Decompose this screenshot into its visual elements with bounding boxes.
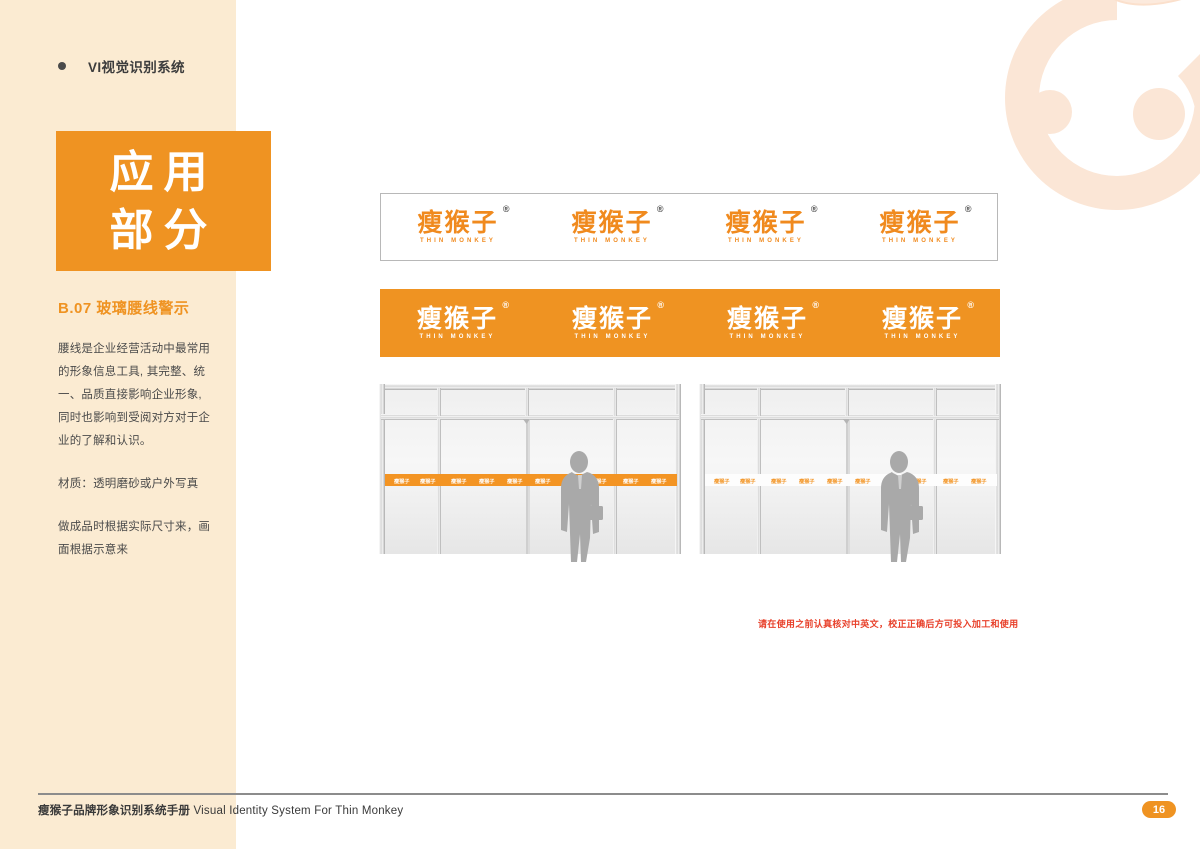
brand-logo-en: THIN MONKEY (727, 334, 808, 340)
brand-logo-cn: 瘦猴子 (879, 210, 960, 235)
svg-text:瘦猴子: 瘦猴子 (943, 477, 959, 485)
brand-logo-en: THIN MONKEY (882, 334, 963, 340)
svg-text:瘦猴子: 瘦猴子 (623, 477, 639, 485)
brand-logo-cn: 瘦猴子 (727, 306, 808, 331)
caution-note: 请在使用之前认真核对中英文，校正正确后方可投入加工和使用 (758, 617, 1018, 630)
footer-title-en: Visual Identity System For Thin Monkey (194, 805, 404, 817)
svg-text:瘦猴子: 瘦猴子 (651, 477, 667, 485)
waistline-band-orange: 瘦猴子 ® THIN MONKEY 瘦猴子 ® THIN MONKEY 瘦猴子 … (380, 289, 1000, 357)
storefront-scene-orange-strip: 瘦猴子瘦猴子 瘦猴子瘦猴子 瘦猴子瘦猴子 瘦猴子瘦猴子 瘦猴子瘦猴子 (375, 378, 685, 563)
storefront-scene-frosted-strip: 瘦猴子瘦猴子 瘦猴子瘦猴子 瘦猴子瘦猴子 瘦猴子瘦猴子 瘦猴子瘦猴子 (695, 378, 1005, 563)
svg-text:瘦猴子: 瘦猴子 (451, 477, 467, 485)
svg-text:瘦猴子: 瘦猴子 (799, 477, 815, 485)
footer-title: 瘦猴子品牌形象识别系统手册 Visual Identity System For… (38, 802, 403, 818)
brand-logo-cn: 瘦猴子 (882, 306, 963, 331)
band-logo-slot: 瘦猴子 ® THIN MONKEY (689, 210, 843, 244)
registered-mark-icon: ® (965, 205, 972, 214)
left-sidebar: VI视觉识别系统 应用 部分 B.07 玻璃腰线警示 腰线是企业经营活动中最常用… (0, 0, 236, 849)
brand-logo-cn: 瘦猴子 (417, 210, 498, 235)
brand-logo-en: THIN MONKEY (417, 238, 498, 244)
vi-manual-page: VI视觉识别系统 应用 部分 B.07 玻璃腰线警示 腰线是企业经营活动中最常用… (0, 0, 1200, 849)
band-logo-slot: 瘦猴子 ® THIN MONKEY (845, 306, 1000, 340)
band-logo-slot: 瘦猴子 ® THIN MONKEY (380, 306, 535, 340)
brand-logo: 瘦猴子 ® THIN MONKEY (882, 306, 963, 340)
brand-logo: 瘦猴子 ® THIN MONKEY (727, 306, 808, 340)
vi-system-title: VI视觉识别系统 (88, 56, 185, 76)
registered-mark-icon: ® (503, 205, 510, 214)
registered-mark-icon: ® (812, 301, 819, 310)
footer-divider (38, 793, 1168, 795)
description-paragraph-3: 做成品时根据实际尺寸来，画面根据示意来 (58, 516, 216, 562)
brand-logo-cn: 瘦猴子 (417, 306, 498, 331)
brand-logo-en: THIN MONKEY (571, 238, 652, 244)
brand-logo-en: THIN MONKEY (572, 334, 653, 340)
svg-text:瘦猴子: 瘦猴子 (855, 477, 871, 485)
svg-text:瘦猴子: 瘦猴子 (420, 477, 436, 485)
section-title: B.07 玻璃腰线警示 (58, 297, 189, 318)
svg-text:瘦猴子: 瘦猴子 (535, 477, 551, 485)
brand-logo-cn: 瘦猴子 (725, 210, 806, 235)
band-logo-slot: 瘦猴子 ® THIN MONKEY (381, 210, 535, 244)
vi-system-header: VI视觉识别系统 (58, 56, 185, 76)
band-logo-slot: 瘦猴子 ® THIN MONKEY (535, 306, 690, 340)
brand-logo: 瘦猴子 ® THIN MONKEY (572, 306, 653, 340)
band-logo-slot: 瘦猴子 ® THIN MONKEY (690, 306, 845, 340)
svg-text:瘦猴子: 瘦猴子 (479, 477, 495, 485)
svg-text:瘦猴子: 瘦猴子 (971, 477, 987, 485)
brand-logo-en: THIN MONKEY (725, 238, 806, 244)
svg-text:瘦猴子: 瘦猴子 (394, 477, 410, 485)
section-description: 腰线是企业经营活动中最常用的形象信息工具, 其完整、统一、品质直接影响企业形象,… (58, 338, 216, 562)
footer-title-cn: 瘦猴子品牌形象识别系统手册 (38, 805, 190, 817)
svg-text:瘦猴子: 瘦猴子 (771, 477, 787, 485)
band-logo-slot: 瘦猴子 ® THIN MONKEY (843, 210, 997, 244)
brand-logo-en: THIN MONKEY (417, 334, 498, 340)
description-paragraph-1: 腰线是企业经营活动中最常用的形象信息工具, 其完整、统一、品质直接影响企业形象,… (58, 338, 216, 453)
brand-logo-cn: 瘦猴子 (571, 210, 652, 235)
svg-text:瘦猴子: 瘦猴子 (714, 477, 730, 485)
brand-logo: 瘦猴子 ® THIN MONKEY (571, 210, 652, 244)
band-logo-slot: 瘦猴子 ® THIN MONKEY (535, 210, 689, 244)
brand-logo: 瘦猴子 ® THIN MONKEY (417, 306, 498, 340)
page-number-badge: 16 (1142, 801, 1176, 818)
svg-text:瘦猴子: 瘦猴子 (827, 477, 843, 485)
brand-logo: 瘦猴子 ® THIN MONKEY (417, 210, 498, 244)
registered-mark-icon: ® (811, 205, 818, 214)
svg-text:瘦猴子: 瘦猴子 (740, 477, 756, 485)
brand-logo: 瘦猴子 ® THIN MONKEY (879, 210, 960, 244)
registered-mark-icon: ® (502, 301, 509, 310)
svg-text:瘦猴子: 瘦猴子 (507, 477, 523, 485)
brand-logo: 瘦猴子 ® THIN MONKEY (725, 210, 806, 244)
registered-mark-icon: ® (657, 205, 664, 214)
description-paragraph-2: 材质：透明磨砂或户外写真 (58, 473, 216, 496)
waistline-band-white: 瘦猴子 ® THIN MONKEY 瘦猴子 ® THIN MONKEY 瘦猴子 … (380, 193, 998, 261)
artwork-area: 瘦猴子 ® THIN MONKEY 瘦猴子 ® THIN MONKEY 瘦猴子 … (236, 0, 1200, 849)
registered-mark-icon: ® (967, 301, 974, 310)
brand-logo-cn: 瘦猴子 (572, 306, 653, 331)
registered-mark-icon: ® (657, 301, 664, 310)
brand-logo-en: THIN MONKEY (879, 238, 960, 244)
bullet-dot-icon (58, 62, 66, 70)
